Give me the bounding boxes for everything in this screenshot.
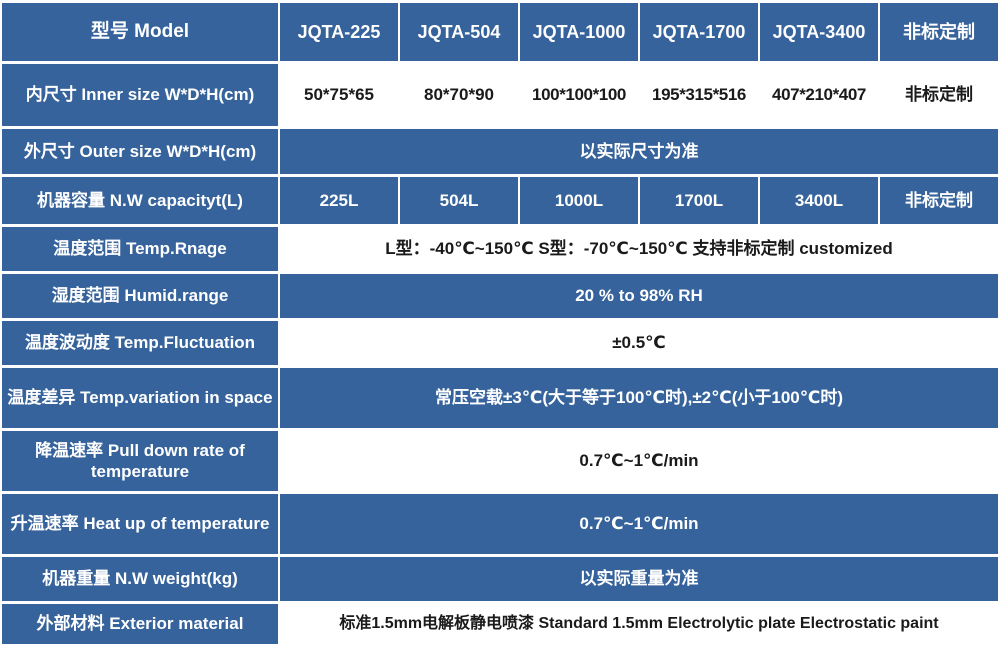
row-label-heat-up-rate: 升温速率 Heat up of temperature	[2, 494, 278, 554]
row-label-inner-size: 内尺寸 Inner size W*D*H(cm)	[2, 64, 278, 126]
cell-temp-range-value: L型：-40℃~150℃ S型：-70℃~150℃ 支持非标定制 customi…	[280, 227, 998, 271]
cell-capacity-225: 225L	[280, 177, 398, 224]
table-row-pull-down-rate: 降温速率 Pull down rate of temperature 0.7℃~…	[2, 431, 998, 491]
cell-capacity-custom: 非标定制	[880, 177, 998, 224]
row-label-model: 型号 Model	[2, 3, 278, 61]
table-row-capacity: 机器容量 N.W capacityt(L) 225L 504L 1000L 17…	[2, 177, 998, 224]
table-row-exterior-material: 外部材料 Exterior material 标准1.5mm电解板静电喷漆 St…	[2, 604, 998, 644]
cell-weight-value: 以实际重量为准	[280, 557, 998, 601]
table-row-temp-variation: 温度差异 Temp.variation in space 常压空载±3℃(大于等…	[2, 368, 998, 428]
cell-model-1000: JQTA-1000	[520, 3, 638, 61]
row-label-humidity-range: 湿度范围 Humid.range	[2, 274, 278, 318]
row-label-outer-size: 外尺寸 Outer size W*D*H(cm)	[2, 129, 278, 174]
cell-capacity-1000: 1000L	[520, 177, 638, 224]
cell-pull-down-rate-value: 0.7℃~1℃/min	[280, 431, 998, 491]
cell-temp-fluctuation-value: ±0.5℃	[280, 321, 998, 365]
cell-model-1700: JQTA-1700	[640, 3, 758, 61]
cell-exterior-material-value: 标准1.5mm电解板静电喷漆 Standard 1.5mm Electrolyt…	[280, 604, 998, 644]
row-label-capacity: 机器容量 N.W capacityt(L)	[2, 177, 278, 224]
cell-capacity-1700: 1700L	[640, 177, 758, 224]
cell-inner-size-225: 50*75*65	[280, 64, 398, 126]
cell-model-504: JQTA-504	[400, 3, 518, 61]
table-row-model: 型号 Model JQTA-225 JQTA-504 JQTA-1000 JQT…	[2, 3, 998, 61]
row-label-temp-fluctuation: 温度波动度 Temp.Fluctuation	[2, 321, 278, 365]
row-label-pull-down-rate: 降温速率 Pull down rate of temperature	[2, 431, 278, 491]
cell-temp-variation-value: 常压空载±3℃(大于等于100℃时),±2℃(小于100℃时)	[280, 368, 998, 428]
cell-outer-size-value: 以实际尺寸为准	[280, 129, 998, 174]
table-row-humidity-range: 湿度范围 Humid.range 20 % to 98% RH	[2, 274, 998, 318]
cell-humidity-range-value: 20 % to 98% RH	[280, 274, 998, 318]
table-row-outer-size: 外尺寸 Outer size W*D*H(cm) 以实际尺寸为准	[2, 129, 998, 174]
row-label-temp-range: 温度范围 Temp.Rnage	[2, 227, 278, 271]
cell-model-3400: JQTA-3400	[760, 3, 878, 61]
table-row-inner-size: 内尺寸 Inner size W*D*H(cm) 50*75*65 80*70*…	[2, 64, 998, 126]
cell-inner-size-504: 80*70*90	[400, 64, 518, 126]
cell-capacity-3400: 3400L	[760, 177, 878, 224]
cell-capacity-504: 504L	[400, 177, 518, 224]
cell-inner-size-3400: 407*210*407	[760, 64, 878, 126]
specification-table: 型号 Model JQTA-225 JQTA-504 JQTA-1000 JQT…	[0, 0, 1000, 647]
cell-inner-size-custom: 非标定制	[880, 64, 998, 126]
cell-heat-up-rate-value: 0.7℃~1℃/min	[280, 494, 998, 554]
table-row-weight: 机器重量 N.W weight(kg) 以实际重量为准	[2, 557, 998, 601]
table-row-temp-range: 温度范围 Temp.Rnage L型：-40℃~150℃ S型：-70℃~150…	[2, 227, 998, 271]
cell-model-custom: 非标定制	[880, 3, 998, 61]
cell-model-225: JQTA-225	[280, 3, 398, 61]
cell-inner-size-1700: 195*315*516	[640, 64, 758, 126]
table-row-heat-up-rate: 升温速率 Heat up of temperature 0.7℃~1℃/min	[2, 494, 998, 554]
row-label-exterior-material: 外部材料 Exterior material	[2, 604, 278, 644]
table-row-temp-fluctuation: 温度波动度 Temp.Fluctuation ±0.5℃	[2, 321, 998, 365]
cell-inner-size-1000: 100*100*100	[520, 64, 638, 126]
row-label-weight: 机器重量 N.W weight(kg)	[2, 557, 278, 601]
row-label-temp-variation: 温度差异 Temp.variation in space	[2, 368, 278, 428]
